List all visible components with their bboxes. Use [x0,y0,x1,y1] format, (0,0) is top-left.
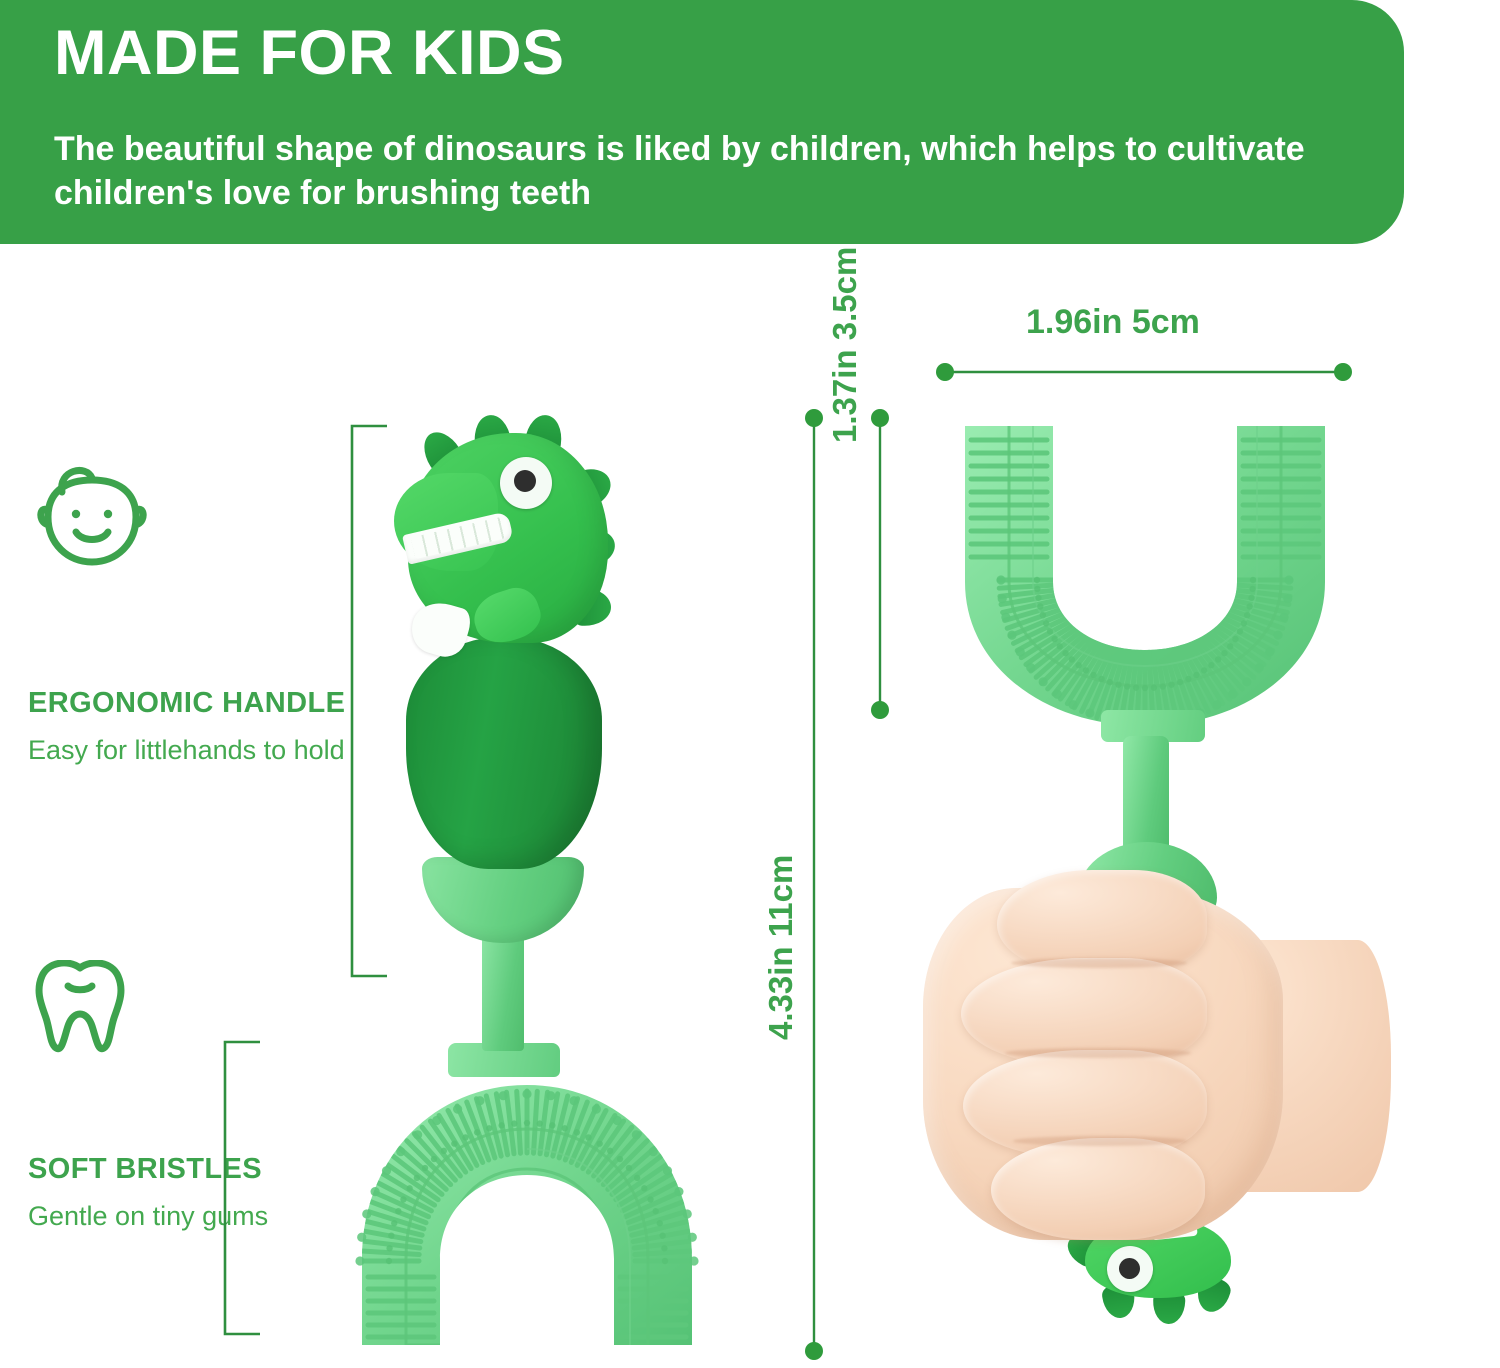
product-full-view [330,415,720,1360]
dino-pupil [514,470,536,492]
feature-title: SOFT BRISTLES [28,1153,318,1187]
feature-title: ERGONOMIC HANDLE [28,687,348,721]
brush-neck-stem [1123,736,1169,858]
dino-eye [500,457,552,509]
page-title: MADE FOR KIDS [54,22,565,85]
brush-neck-stem [482,931,524,1051]
dimension-head-width [936,363,1352,381]
dimension-label-head-width: 1.96in 5cm [1026,303,1200,342]
u-shaped-brush-head [342,1063,712,1363]
product-in-hand-view [905,410,1385,1368]
tooth-icon [28,960,318,1061]
finger-crease [1011,958,1187,968]
baby-face-icon [28,462,348,579]
feature-description: Easy for littlehands to hold [28,734,348,767]
finger-crease [1013,1136,1187,1146]
feature-soft-bristles: SOFT BRISTLES Gentle on tiny gums [28,960,318,1233]
finger-crease [1005,1048,1191,1058]
handle-collar [422,857,584,943]
header-banner: MADE FOR KIDS The beautiful shape of din… [0,0,1404,244]
banner-subtitle: The beautiful shape of dinosaurs is like… [54,128,1324,215]
little-finger [991,1138,1205,1240]
dinosaur-character [390,415,620,680]
dimension-label-head-height: 1.37in 3.5cm [826,247,864,443]
dimension-label-total-length: 4.33in 11cm [762,855,800,1040]
dimension-head-height [871,409,889,719]
dimension-total-length [805,409,823,1360]
child-hand [905,862,1385,1282]
feature-ergonomic-handle: ERGONOMIC HANDLE Easy for littlehands to… [28,462,348,767]
feature-description: Gentle on tiny gums [28,1200,318,1233]
u-shaped-brush-head [925,410,1365,740]
